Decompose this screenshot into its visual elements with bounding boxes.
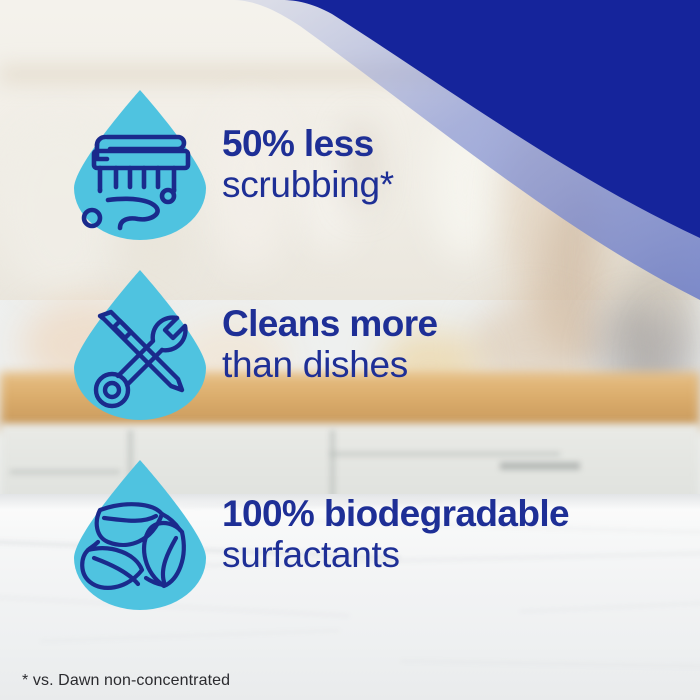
background-shelf (0, 60, 700, 90)
feature-headline: Cleans more (222, 305, 438, 343)
feature-headline: 50% less (222, 125, 394, 163)
cabinet-seam (330, 452, 560, 456)
droplet-badge (70, 458, 210, 610)
water-droplet-shape (70, 458, 210, 610)
feature-subline: than dishes (222, 346, 438, 384)
feature-headline: 100% biodegradable (222, 495, 569, 533)
feature-text-block: 50% less scrubbing* (222, 125, 394, 203)
feature-row-biodegradable: 100% biodegradable surfactants (70, 458, 569, 610)
footnote-disclaimer: * vs. Dawn non-concentrated (22, 672, 230, 690)
droplet-fill (74, 270, 206, 420)
feature-subline: scrubbing* (222, 166, 394, 204)
feature-row-scrubbing: 50% less scrubbing* (70, 88, 394, 240)
feature-text-block: Cleans more than dishes (222, 305, 438, 383)
water-droplet-shape (70, 268, 210, 420)
droplet-badge (70, 268, 210, 420)
background-blur-blob (430, 110, 500, 260)
droplet-fill (74, 460, 206, 610)
feature-text-block: 100% biodegradable surfactants (222, 495, 569, 573)
water-droplet-shape (70, 88, 210, 240)
feature-subline: surfactants (222, 536, 569, 574)
feature-row-cleans-more: Cleans more than dishes (70, 268, 438, 420)
product-benefits-graphic: 50% less scrubbing* (0, 0, 700, 700)
droplet-badge (70, 88, 210, 240)
